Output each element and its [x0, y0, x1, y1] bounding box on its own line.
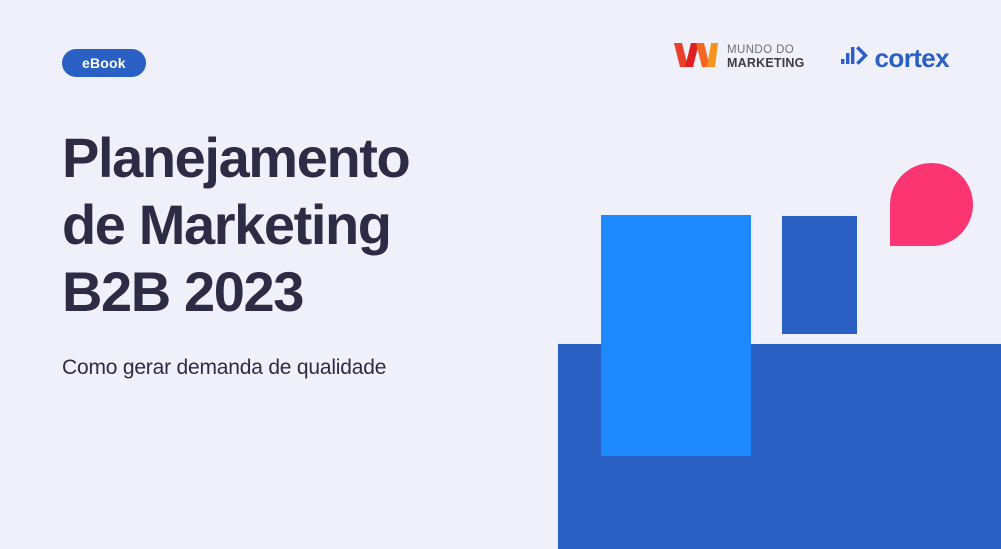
teardrop-pink-shape: [890, 163, 973, 246]
cortex-wordmark: cortex: [875, 45, 949, 71]
logo-row: MUNDO DO MARKETING cortex: [674, 40, 949, 75]
block-bright-blue-shape: [601, 215, 751, 456]
mundo-do-marketing-logo: MUNDO DO MARKETING: [674, 40, 805, 75]
block-large-dark-blue-shape: [558, 344, 1001, 549]
headline-line-3: B2B 2023: [62, 258, 532, 325]
cover-copy: Planejamento de Marketing B2B 2023 Como …: [62, 124, 532, 381]
cover-subtitle: Como gerar demanda de qualidade: [62, 326, 532, 381]
ebook-badge: eBook: [62, 49, 146, 77]
cortex-bars-chevron-mark-icon: [841, 44, 871, 71]
cortex-logo: cortex: [841, 44, 949, 71]
ebook-cover: eBook MUNDO DO MARKETING: [0, 0, 1001, 549]
headline-line-2: de Marketing: [62, 191, 532, 258]
block-small-dark-blue-shape: [782, 216, 857, 334]
headline-line-1: Planejamento: [62, 124, 532, 191]
mundo-do-marketing-w-mark-icon: [674, 40, 718, 75]
mundo-do-marketing-line-2: MARKETING: [727, 57, 805, 70]
mundo-do-marketing-wordmark: MUNDO DO MARKETING: [727, 45, 805, 69]
page-title: Planejamento de Marketing B2B 2023: [62, 124, 532, 326]
